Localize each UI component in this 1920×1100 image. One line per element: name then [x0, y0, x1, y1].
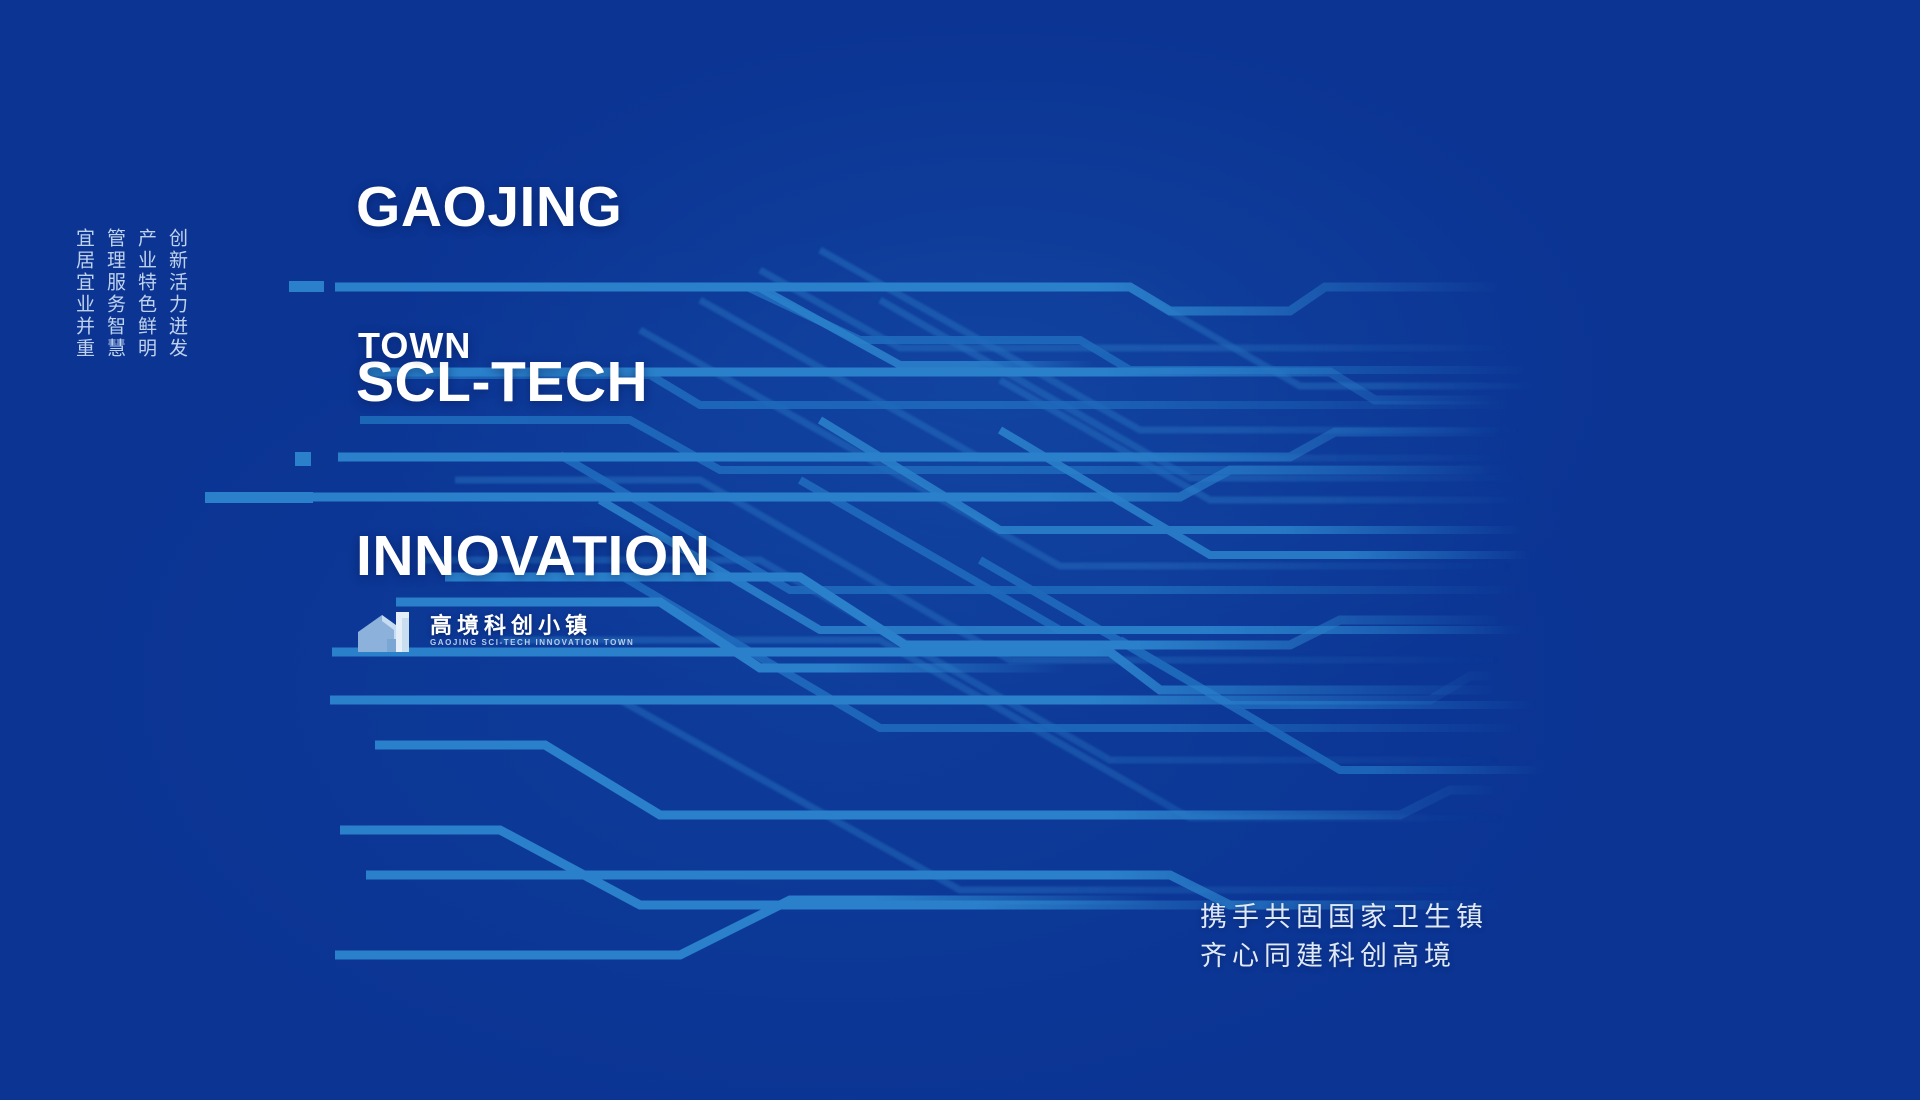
vertical-slogan-column-3: 管理服务智慧 [105, 228, 124, 433]
headline-line-3: INNOVATION [356, 527, 710, 585]
circuit-trace-artwork [0, 0, 1920, 1100]
bottom-slogan-line-2: 齐心同建科创高境 [1200, 937, 1488, 976]
vertical-slogan: 创新活力迸发 产业特色鲜明 管理服务智慧 宜居宜业并重 [74, 228, 186, 433]
bottom-slogan-line-1: 携手共固国家卫生镇 [1200, 898, 1488, 937]
headline-line-4: TOWN [358, 325, 471, 367]
vertical-slogan-column-1: 创新活力迸发 [167, 228, 186, 433]
vertical-slogan-column-2: 产业特色鲜明 [136, 228, 155, 433]
house-building-icon [356, 608, 418, 654]
headline-line-1: GAOJING [356, 178, 710, 236]
logo-chinese-name: 高境科创小镇 [430, 615, 634, 637]
logo-lockup: 高境科创小镇 GAOJING SCI-TECH INNOVATION TOWN [356, 608, 634, 654]
page-title: GAOJING SCL-TECH INNOVATION [356, 62, 710, 701]
dash-markers [205, 281, 324, 503]
vertical-slogan-column-4: 宜居宜业并重 [74, 228, 93, 433]
poster-canvas: GAOJING SCL-TECH INNOVATION TOWN 创新活力迸发 … [0, 0, 1920, 1100]
logo-english-name: GAOJING SCI-TECH INNOVATION TOWN [430, 639, 634, 647]
bottom-slogan: 携手共固国家卫生镇 齐心同建科创高境 [1200, 898, 1488, 976]
